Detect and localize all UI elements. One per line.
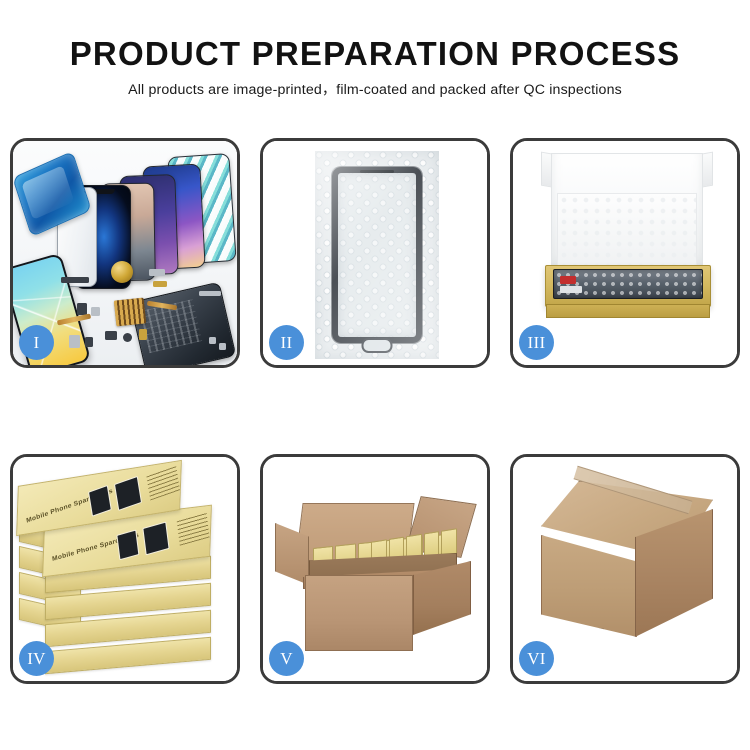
step-badge-2: II	[269, 325, 304, 360]
step-badge-1: I	[19, 325, 54, 360]
kraft-box-thumbnail-2b	[142, 521, 169, 555]
spare-part-block-2	[91, 307, 100, 316]
process-step-panel-2[interactable]: II	[260, 138, 490, 368]
kraft-box-thumbnail-2a	[116, 529, 139, 560]
kraft-box-thumbnail-1a	[88, 485, 112, 517]
spare-part-screw-1	[209, 337, 216, 344]
process-steps-grid: I II	[10, 138, 740, 684]
carton-front-face	[305, 575, 413, 651]
phone-screen-glass	[332, 167, 422, 343]
page-header: PRODUCT PREPARATION PROCESS All products…	[0, 34, 750, 99]
process-step-panel-6[interactable]: VI	[510, 454, 740, 684]
page-subtitle: All products are image-printed，film-coat…	[0, 81, 750, 99]
spare-part-gold-1	[153, 281, 167, 287]
bubble-wrap-sheet	[315, 151, 439, 359]
spare-part-block-1	[77, 303, 87, 315]
step-badge-4: IV	[19, 641, 54, 676]
screen-red-sticker	[560, 276, 576, 284]
process-step-panel-5[interactable]: V	[260, 454, 490, 684]
kraft-box-thumbnail-1b	[114, 476, 142, 511]
spare-part-block-3	[105, 331, 117, 340]
spare-part-screwdriver	[199, 291, 221, 296]
spare-part-block-4	[69, 335, 80, 348]
kraft-box-tray-front	[546, 304, 710, 318]
spare-part-strip-2	[149, 269, 165, 276]
kraft-box-spec-lines-2	[177, 512, 210, 546]
vibration-motor-part	[111, 261, 133, 283]
process-step-panel-4[interactable]: Mobile Phone Spare Parts Mobile Phone Sp…	[10, 454, 240, 684]
foam-padding	[557, 193, 697, 267]
kraft-box-spec-lines-1	[146, 465, 180, 500]
spare-part-strip-1	[61, 277, 89, 283]
step-badge-3: III	[519, 325, 554, 360]
screen-white-sticker	[560, 286, 582, 293]
spare-part-screw-2	[219, 343, 226, 350]
process-step-panel-1[interactable]: I	[10, 138, 240, 368]
process-step-panel-3[interactable]: III	[510, 138, 740, 368]
spare-part-round-1	[123, 333, 132, 342]
step-badge-5: V	[269, 641, 304, 676]
page-title: PRODUCT PREPARATION PROCESS	[0, 34, 750, 74]
product-preparation-process-page: PRODUCT PREPARATION PROCESS All products…	[0, 0, 750, 750]
packed-phone-screen	[553, 269, 703, 299]
connector-chip-array	[114, 298, 147, 327]
spare-part-block-5	[85, 337, 93, 347]
step-badge-6: VI	[519, 641, 554, 676]
spare-part-gold-2	[139, 329, 147, 340]
